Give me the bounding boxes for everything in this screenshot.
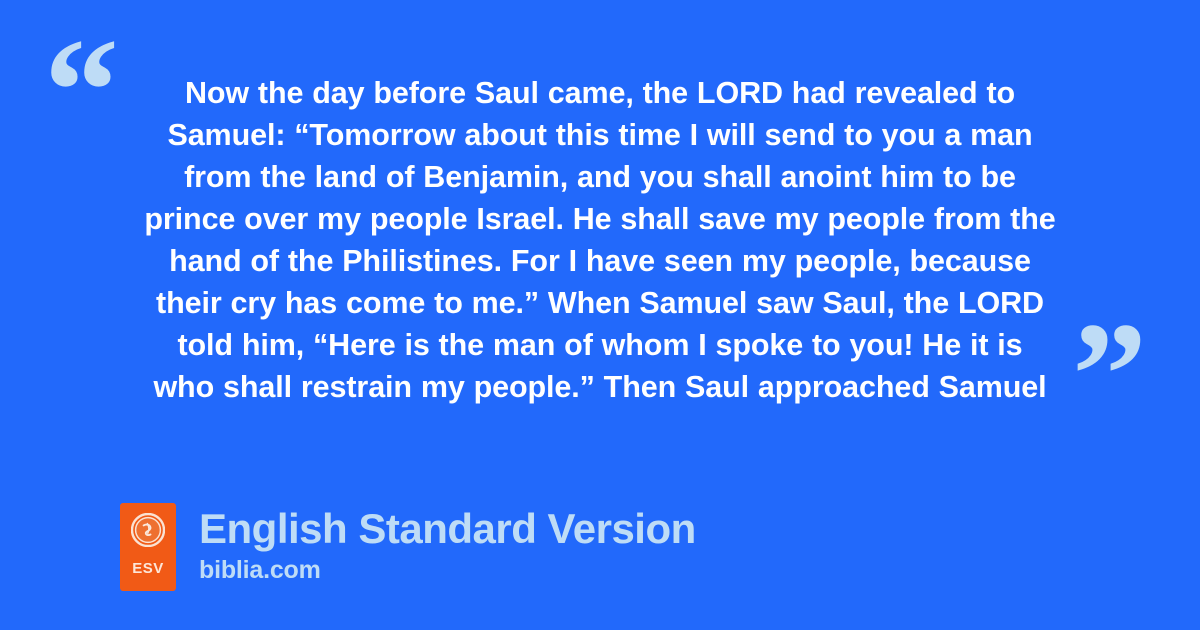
translation-title: English Standard Version <box>199 505 696 553</box>
esv-logo-label: ESV <box>132 561 164 576</box>
esv-logo[interactable]: ESV <box>120 503 176 591</box>
bible-quote-card: “ Now the day before Saul came, the LORD… <box>0 0 1200 630</box>
site-url[interactable]: biblia.com <box>199 556 696 584</box>
brand-text-column: English Standard Version biblia.com <box>199 503 696 584</box>
esv-seal-icon <box>131 513 165 547</box>
closing-quote-icon: ” <box>1072 300 1147 450</box>
quote-text: Now the day before Saul came, the LORD h… <box>100 72 1100 408</box>
brand-footer[interactable]: ESV English Standard Version biblia.com <box>120 503 696 591</box>
quote-block: “ Now the day before Saul came, the LORD… <box>0 0 1200 450</box>
